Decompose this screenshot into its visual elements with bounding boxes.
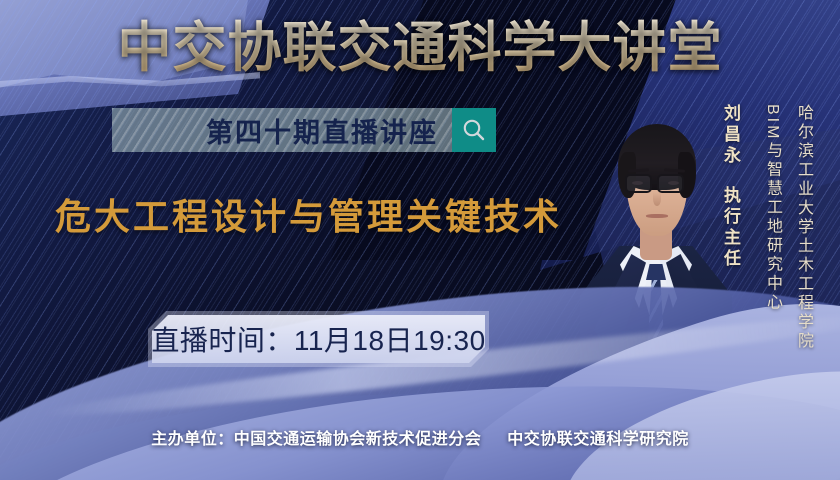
broadcast-time-chip: 直播时间：11月18日19:30 <box>152 315 485 363</box>
footer-organizers: 主办单位：中国交通运输协会新技术促进分会中交协联交通科学研究院 <box>0 425 840 449</box>
livestream-poster: 中交协联交通科学大讲堂 中交协联交通科学大讲堂 第四十期直播讲座 危大工程设计与… <box>0 0 840 480</box>
footer-cohost: 中交协联交通科学研究院 <box>507 431 689 448</box>
lecture-headline: 危大工程设计与管理关键技术 <box>55 188 562 240</box>
speaker-affiliation-secondary: BIM与智慧工地研究中心 <box>760 104 784 312</box>
search-button[interactable] <box>452 108 496 152</box>
speaker-role: 执行主任 <box>718 186 743 270</box>
portrait-eyeglass-bridge <box>652 181 659 184</box>
footer-host: 主办单位：中国交通运输协会新技术促进分会 <box>151 431 481 448</box>
episode-label: 第四十期直播讲座 <box>206 111 438 150</box>
speaker-name: 刘昌永 <box>718 104 743 167</box>
portrait-nose <box>653 192 661 206</box>
main-title: 中交协联交通科学大讲堂 <box>0 17 840 79</box>
speaker-affiliation-primary: 哈尔滨工业大学土木工程学院 <box>791 104 815 351</box>
broadcast-time-label: 直播时间：11月18日19:30 <box>151 319 485 359</box>
search-icon <box>461 117 487 143</box>
portrait-eyeglass-left <box>625 174 652 193</box>
portrait-eyeglass-right <box>657 174 684 193</box>
episode-bar: 第四十期直播讲座 <box>112 108 452 152</box>
portrait-mouth <box>646 214 668 218</box>
